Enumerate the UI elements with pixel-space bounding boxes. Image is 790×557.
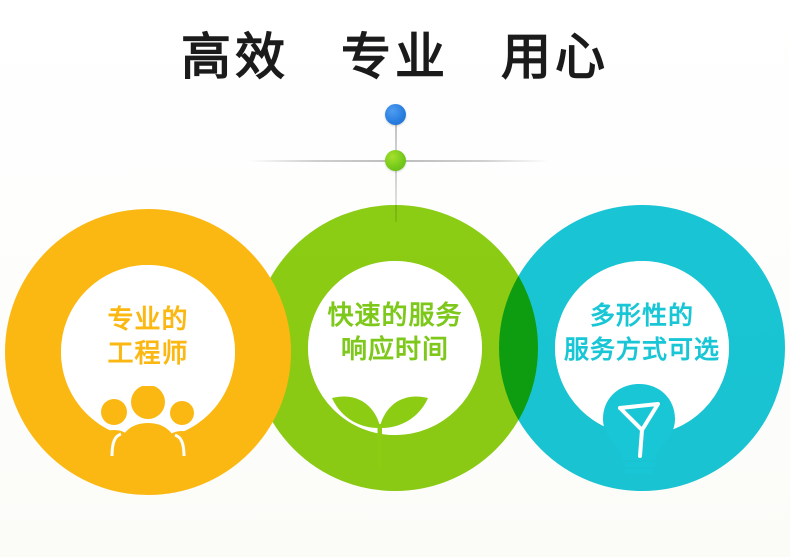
caption-engineers-line2: 工程师 bbox=[18, 337, 278, 371]
green-node-dot-icon bbox=[385, 150, 406, 171]
headline-word-3: 用心 bbox=[501, 28, 609, 86]
page-title: 高效专业用心 bbox=[0, 28, 790, 86]
caption-response-line1: 快速的服务 bbox=[265, 299, 525, 333]
caption-service-modes-line1: 多形性的 bbox=[512, 299, 772, 333]
caption-service-modes: 多形性的 服务方式可选 bbox=[512, 299, 772, 367]
headline-word-1: 高效 bbox=[181, 28, 289, 86]
sprout-leaf-icon bbox=[318, 384, 442, 468]
blue-node-dot-icon bbox=[385, 104, 406, 125]
caption-engineers-line1: 专业的 bbox=[18, 303, 278, 337]
caption-response-line2: 响应时间 bbox=[265, 333, 525, 367]
caption-engineers: 专业的 工程师 bbox=[18, 303, 278, 371]
caption-response: 快速的服务 响应时间 bbox=[265, 299, 525, 367]
headline-word-2: 专业 bbox=[341, 28, 449, 86]
team-people-icon bbox=[88, 386, 208, 456]
infographic-canvas: 高效专业用心 专业的 工程师 快速的服务 响应时间 多形性的 服务方式可选 bbox=[0, 0, 790, 557]
caption-service-modes-line2: 服务方式可选 bbox=[512, 333, 772, 367]
lightbulb-icon bbox=[596, 382, 682, 474]
